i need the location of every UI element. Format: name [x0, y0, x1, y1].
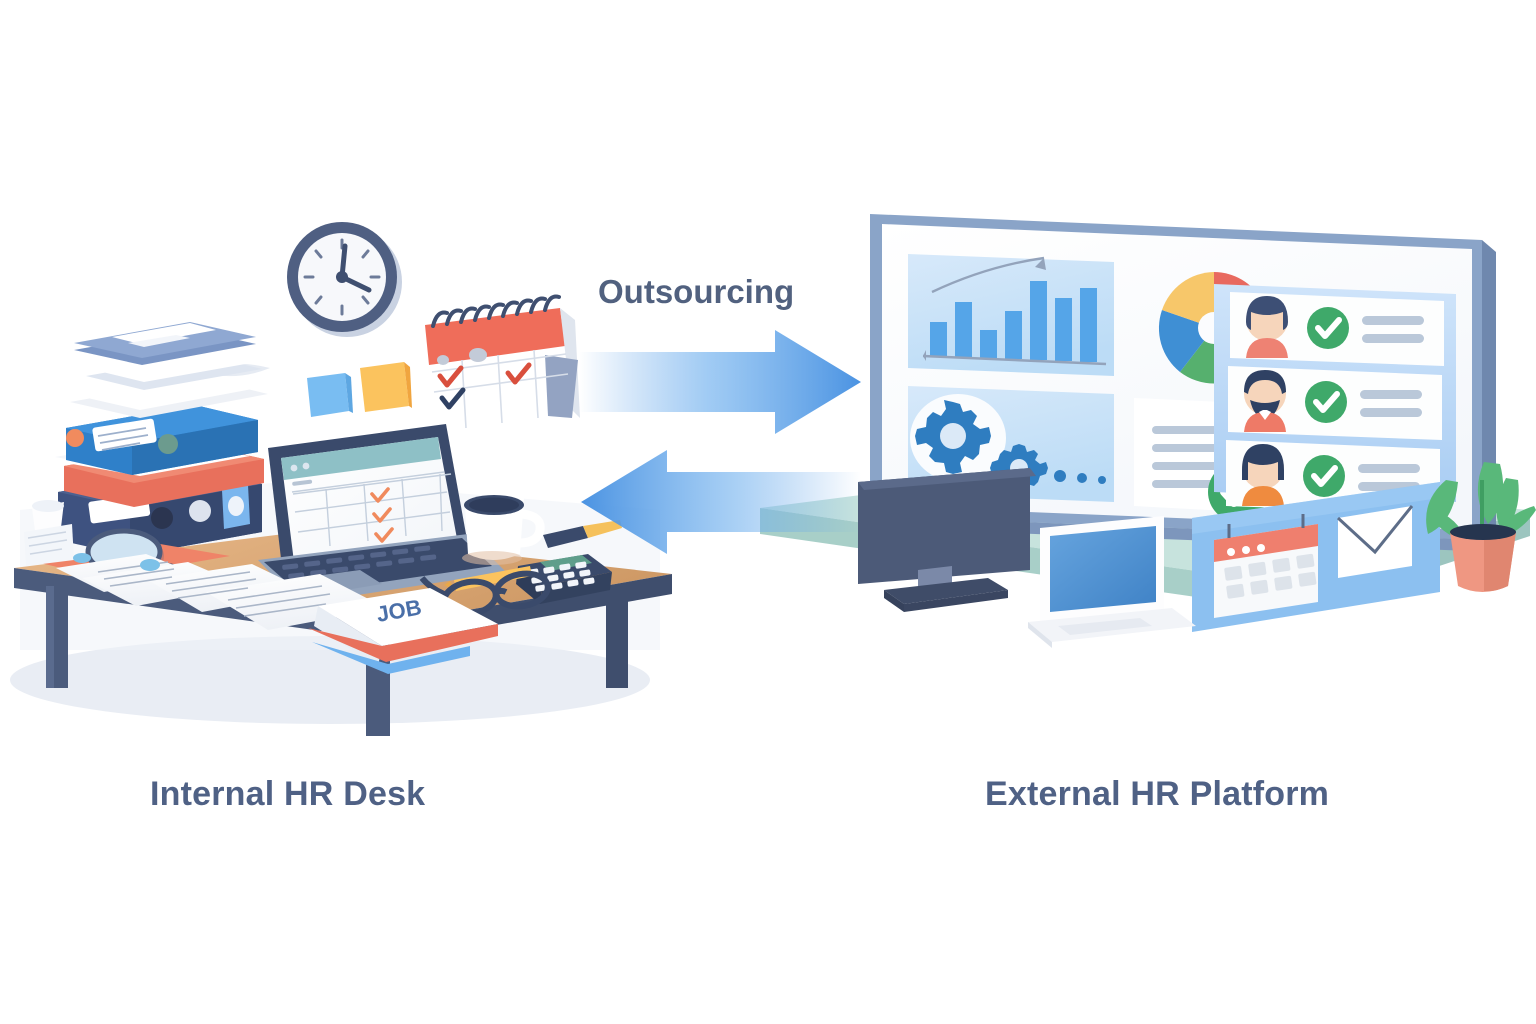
sticky-note-orange [360, 362, 412, 412]
arrow-right-icon [579, 330, 861, 434]
desk-calendar [425, 297, 580, 432]
envelope-icon[interactable] [1338, 506, 1412, 578]
bar-chart-widget [908, 254, 1114, 376]
desktop-monitor [858, 468, 1036, 612]
status-badge [1305, 381, 1347, 423]
employee-card-list [1214, 284, 1456, 514]
document-binder-stack [55, 322, 270, 556]
wall-clock [6, 219, 402, 337]
eraser-blue [140, 559, 160, 571]
employee-card[interactable] [1228, 366, 1442, 440]
arrow-left-icon [581, 450, 861, 554]
avatar [1246, 296, 1288, 358]
arrow-label: Outsourcing [598, 273, 794, 311]
employee-card[interactable] [1230, 292, 1444, 366]
avatar [1242, 444, 1284, 506]
right-scene-label: External HR Platform [985, 775, 1329, 814]
status-badge [1307, 307, 1349, 349]
document-stack [70, 322, 270, 418]
avatar [1244, 370, 1286, 432]
eraser-blue-2 [73, 553, 91, 563]
status-badge [1303, 455, 1345, 497]
sticky-note-blue [307, 373, 353, 417]
exchange-arrows [575, 320, 865, 560]
diagram-canvas: JOB [0, 0, 1536, 1024]
left-scene-label: Internal HR Desk [150, 775, 425, 814]
